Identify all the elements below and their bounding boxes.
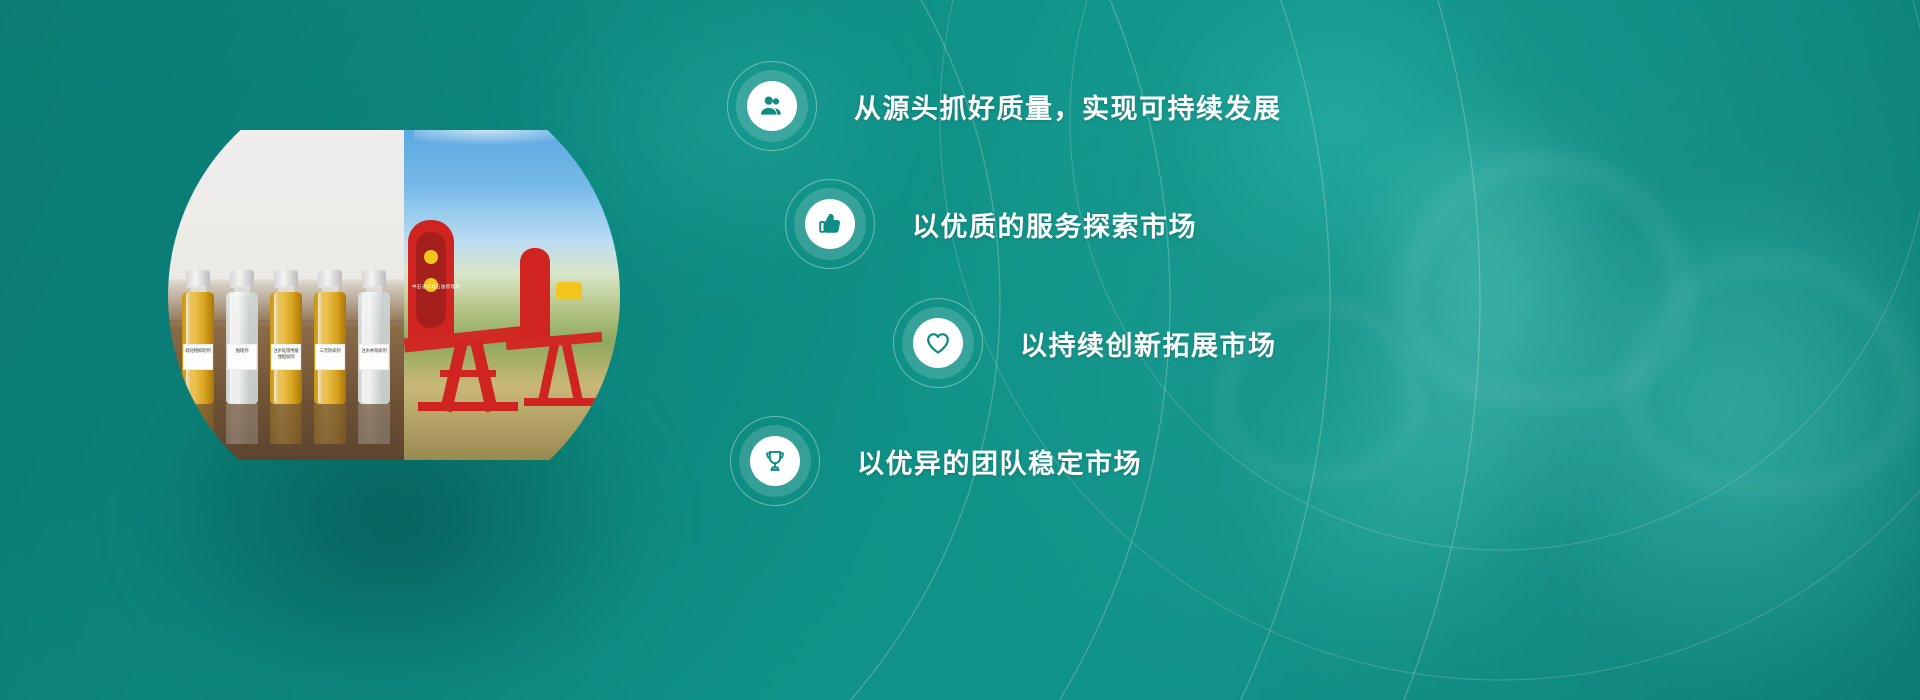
users-icon <box>736 70 808 142</box>
feature-label: 以优异的团队稳定市场 <box>857 442 1142 481</box>
promo-banner: 硫化物抑制剂 脱硫剂 注水处理用缓蚀阻垢剂 <box>0 0 1920 700</box>
trophy-icon <box>739 425 811 497</box>
feature-item-service[interactable]: 以优质的服务探索市场 <box>794 188 1197 260</box>
feature-label: 从源头抓好质量，实现可持续发展 <box>854 87 1282 126</box>
feature-item-innovation[interactable]: 以持续创新拓展市场 <box>902 307 1277 379</box>
heart-icon <box>902 307 974 379</box>
feature-item-quality[interactable]: 从源头抓好质量，实现可持续发展 <box>736 70 1282 142</box>
thumbs-up-icon <box>794 188 866 260</box>
feature-item-team[interactable]: 以优异的团队稳定市场 <box>739 425 1142 497</box>
feature-list: 从源头抓好质量，实现可持续发展 以优质的服务探索市场 <box>0 0 1920 700</box>
feature-label: 以持续创新拓展市场 <box>1020 324 1277 363</box>
feature-label: 以优质的服务探索市场 <box>912 205 1197 244</box>
